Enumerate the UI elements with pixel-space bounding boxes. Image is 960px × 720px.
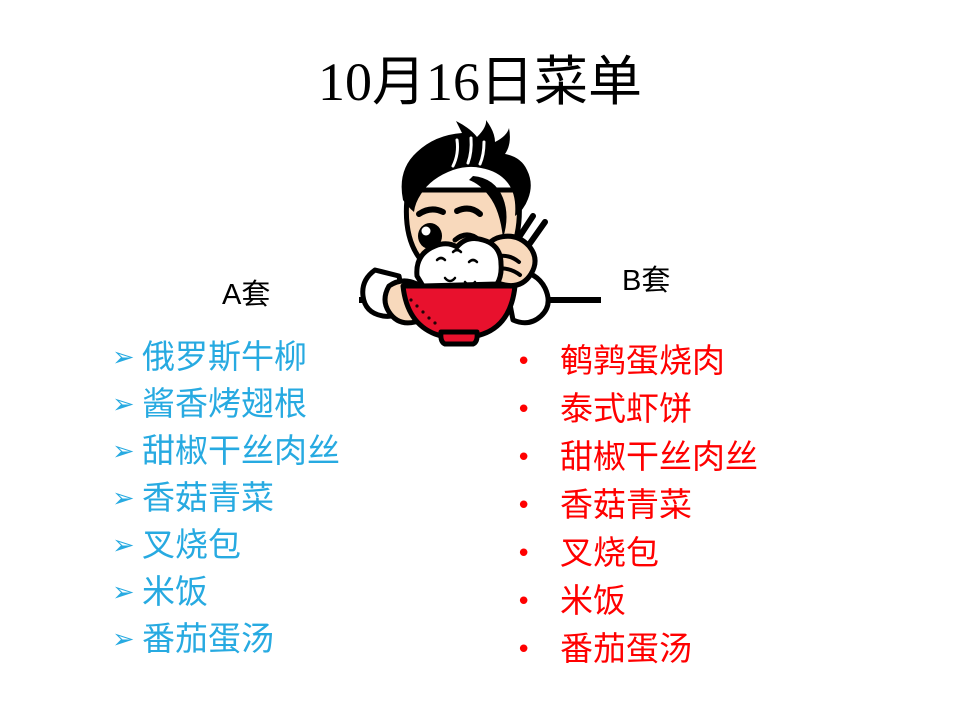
page-title: 10月16日菜单 <box>0 50 960 114</box>
list-item: • 番茄蛋汤 <box>516 628 856 676</box>
arrow-bullet-icon: ➢ <box>112 430 142 474</box>
disc-bullet-icon: • <box>516 628 560 672</box>
list-item: • 米饭 <box>516 580 856 628</box>
list-item: ➢ 番茄蛋汤 <box>112 618 442 665</box>
list-item: ➢ 米饭 <box>112 571 442 618</box>
menu-item-label: 泰式虾饼 <box>560 388 692 432</box>
disc-bullet-icon: • <box>516 388 560 432</box>
list-item: ➢ 酱香烤翅根 <box>112 383 442 430</box>
bowl-foot <box>441 332 477 344</box>
list-item: ➢ 叉烧包 <box>112 524 442 571</box>
disc-bullet-icon: • <box>516 580 560 624</box>
menu-item-label: 酱香烤翅根 <box>142 383 307 427</box>
menu-item-label: 香菇青菜 <box>560 484 692 528</box>
menu-item-label: 叉烧包 <box>142 524 241 568</box>
menu-item-label: 鹌鹑蛋烧肉 <box>560 340 725 384</box>
menu-list-b: • 鹌鹑蛋烧肉 • 泰式虾饼 • 甜椒干丝肉丝 • 香菇青菜 • 叉烧包 • 米… <box>516 340 856 676</box>
list-item: ➢ 甜椒干丝肉丝 <box>112 430 442 477</box>
menu-item-label: 米饭 <box>142 571 208 615</box>
disc-bullet-icon: • <box>516 532 560 576</box>
disc-bullet-icon: • <box>516 484 560 528</box>
menu-item-label: 叉烧包 <box>560 532 659 576</box>
menu-item-label: 番茄蛋汤 <box>142 618 274 662</box>
arrow-bullet-icon: ➢ <box>112 524 142 568</box>
menu-item-label: 甜椒干丝肉丝 <box>560 436 758 480</box>
menu-slide: 10月16日菜单 <box>0 0 960 720</box>
menu-list-a: ➢ 俄罗斯牛柳 ➢ 酱香烤翅根 ➢ 甜椒干丝肉丝 ➢ 香菇青菜 ➢ 叉烧包 ➢ … <box>112 336 442 665</box>
arrow-bullet-icon: ➢ <box>112 336 142 380</box>
boy-eating-rice-illustration <box>345 118 615 358</box>
menu-item-label: 俄罗斯牛柳 <box>142 336 307 380</box>
menu-item-label: 米饭 <box>560 580 626 624</box>
list-item: • 鹌鹑蛋烧肉 <box>516 340 856 388</box>
arrow-bullet-icon: ➢ <box>112 571 142 615</box>
menu-item-label: 甜椒干丝肉丝 <box>142 430 340 474</box>
list-item: • 香菇青菜 <box>516 484 856 532</box>
menu-item-label: 番茄蛋汤 <box>560 628 692 672</box>
list-item: • 泰式虾饼 <box>516 388 856 436</box>
column-header-a: A套 <box>222 278 270 312</box>
arrow-bullet-icon: ➢ <box>112 618 142 662</box>
list-item: • 甜椒干丝肉丝 <box>516 436 856 484</box>
column-header-b: B套 <box>622 264 670 298</box>
list-item: ➢ 俄罗斯牛柳 <box>112 336 442 383</box>
list-item: • 叉烧包 <box>516 532 856 580</box>
arrow-bullet-icon: ➢ <box>112 383 142 427</box>
disc-bullet-icon: • <box>516 436 560 480</box>
arrow-bullet-icon: ➢ <box>112 477 142 521</box>
list-item: ➢ 香菇青菜 <box>112 477 442 524</box>
disc-bullet-icon: • <box>516 340 560 384</box>
menu-item-label: 香菇青菜 <box>142 477 274 521</box>
